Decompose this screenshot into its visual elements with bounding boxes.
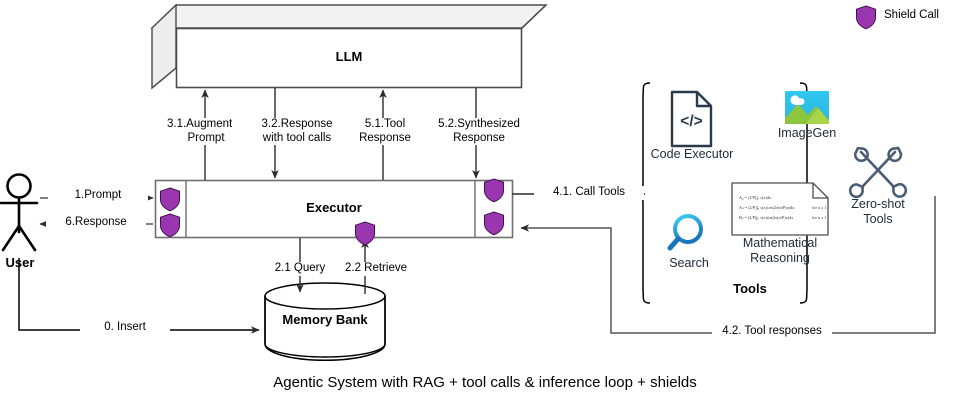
svg-text:for n ≥ 1: for n ≥ 1 xyxy=(812,205,827,210)
math-reasoning-icon: A₀ = (1/P)∫ₚ s(x)dx Aₙ = (2/P)∫ₚ s(x)cos… xyxy=(732,183,828,235)
zero-shot-tools-icon xyxy=(850,148,906,197)
edge-insert xyxy=(19,258,259,330)
tool-label-code-executor: Code Executor xyxy=(646,147,738,162)
executor-node xyxy=(156,181,513,238)
tool-label-search: Search xyxy=(661,256,717,271)
diagram-canvas: </> A₀ = (1/P)∫ₚ s(x)dx Aₙ = (2/P)∫ₚ xyxy=(0,0,970,411)
search-icon xyxy=(670,216,701,248)
tool-label-math: Mathematical Reasoning xyxy=(727,236,833,265)
svg-text:</>: </> xyxy=(680,113,702,130)
llm-node xyxy=(152,5,546,88)
shield-legend-icon xyxy=(857,6,876,29)
tool-label-zero-shot: Zero-shot Tools xyxy=(840,197,916,226)
legend-shield-label: Shield Call xyxy=(884,9,939,21)
shield-memory xyxy=(356,222,375,245)
memory-bank-node xyxy=(265,283,385,360)
tools-brace-left xyxy=(635,83,650,303)
user-actor xyxy=(1,175,37,251)
imagegen-icon xyxy=(785,91,829,124)
code-executor-icon: </> xyxy=(672,92,711,146)
tool-label-imagegen: ImageGen xyxy=(772,126,842,141)
svg-text:for n ≥ 1: for n ≥ 1 xyxy=(812,215,827,220)
tools-group-label: Tools xyxy=(700,281,800,296)
diagram-caption: Agentic System with RAG + tool calls & i… xyxy=(0,374,970,391)
